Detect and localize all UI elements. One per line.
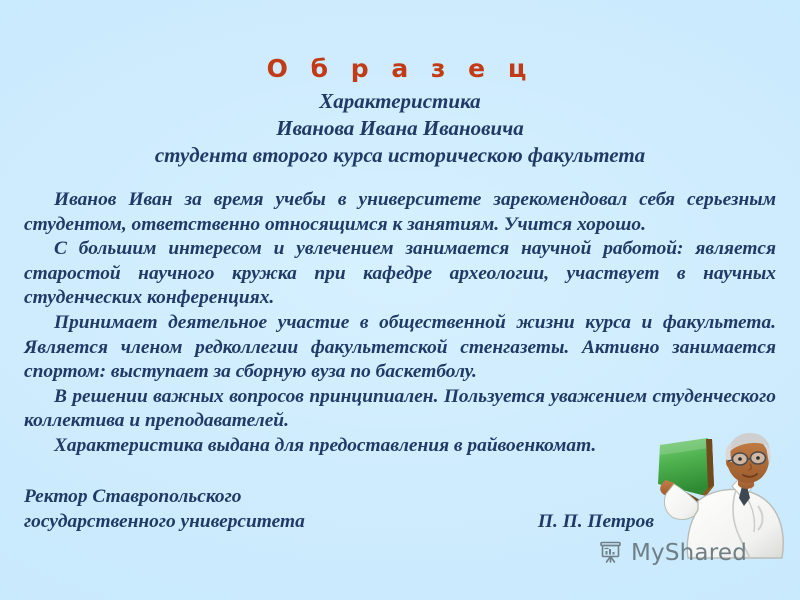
presentation-chart-icon [598,540,624,566]
heading-block: О б р а з е ц Характеристика Иванова Ива… [0,54,800,169]
subject-name: Иванова Ивана Ивановича [0,115,800,142]
sample-label: О б р а з е ц [0,54,800,84]
paragraph-4: В решении важных вопросов принципиален. … [24,385,776,434]
slide-canvas: О б р а з е ц Характеристика Иванова Ива… [0,0,800,600]
subject-description: студента второго курса историческою факу… [0,142,800,169]
head [725,433,770,483]
paragraph-2: С большим интересом и увлечением занимае… [24,237,776,311]
body-text: Иванов Иван за время учебы в университет… [24,188,776,459]
watermark-label: MyShared [631,540,747,566]
document-title: Характеристика [0,88,800,115]
signer-title-line-1: Ректор Ставропольского [24,484,664,509]
signature-block: Ректор Ставропольского государственного … [24,484,664,534]
myshared-watermark: MyShared [598,540,747,566]
signature-row: государственного университета П. П. Петр… [24,509,664,534]
paragraph-1: Иванов Иван за время учебы в университет… [24,188,776,237]
paragraph-3: Принимает деятельное участие в обществен… [24,311,776,385]
signer-title-line-2: государственного университета [24,509,305,534]
